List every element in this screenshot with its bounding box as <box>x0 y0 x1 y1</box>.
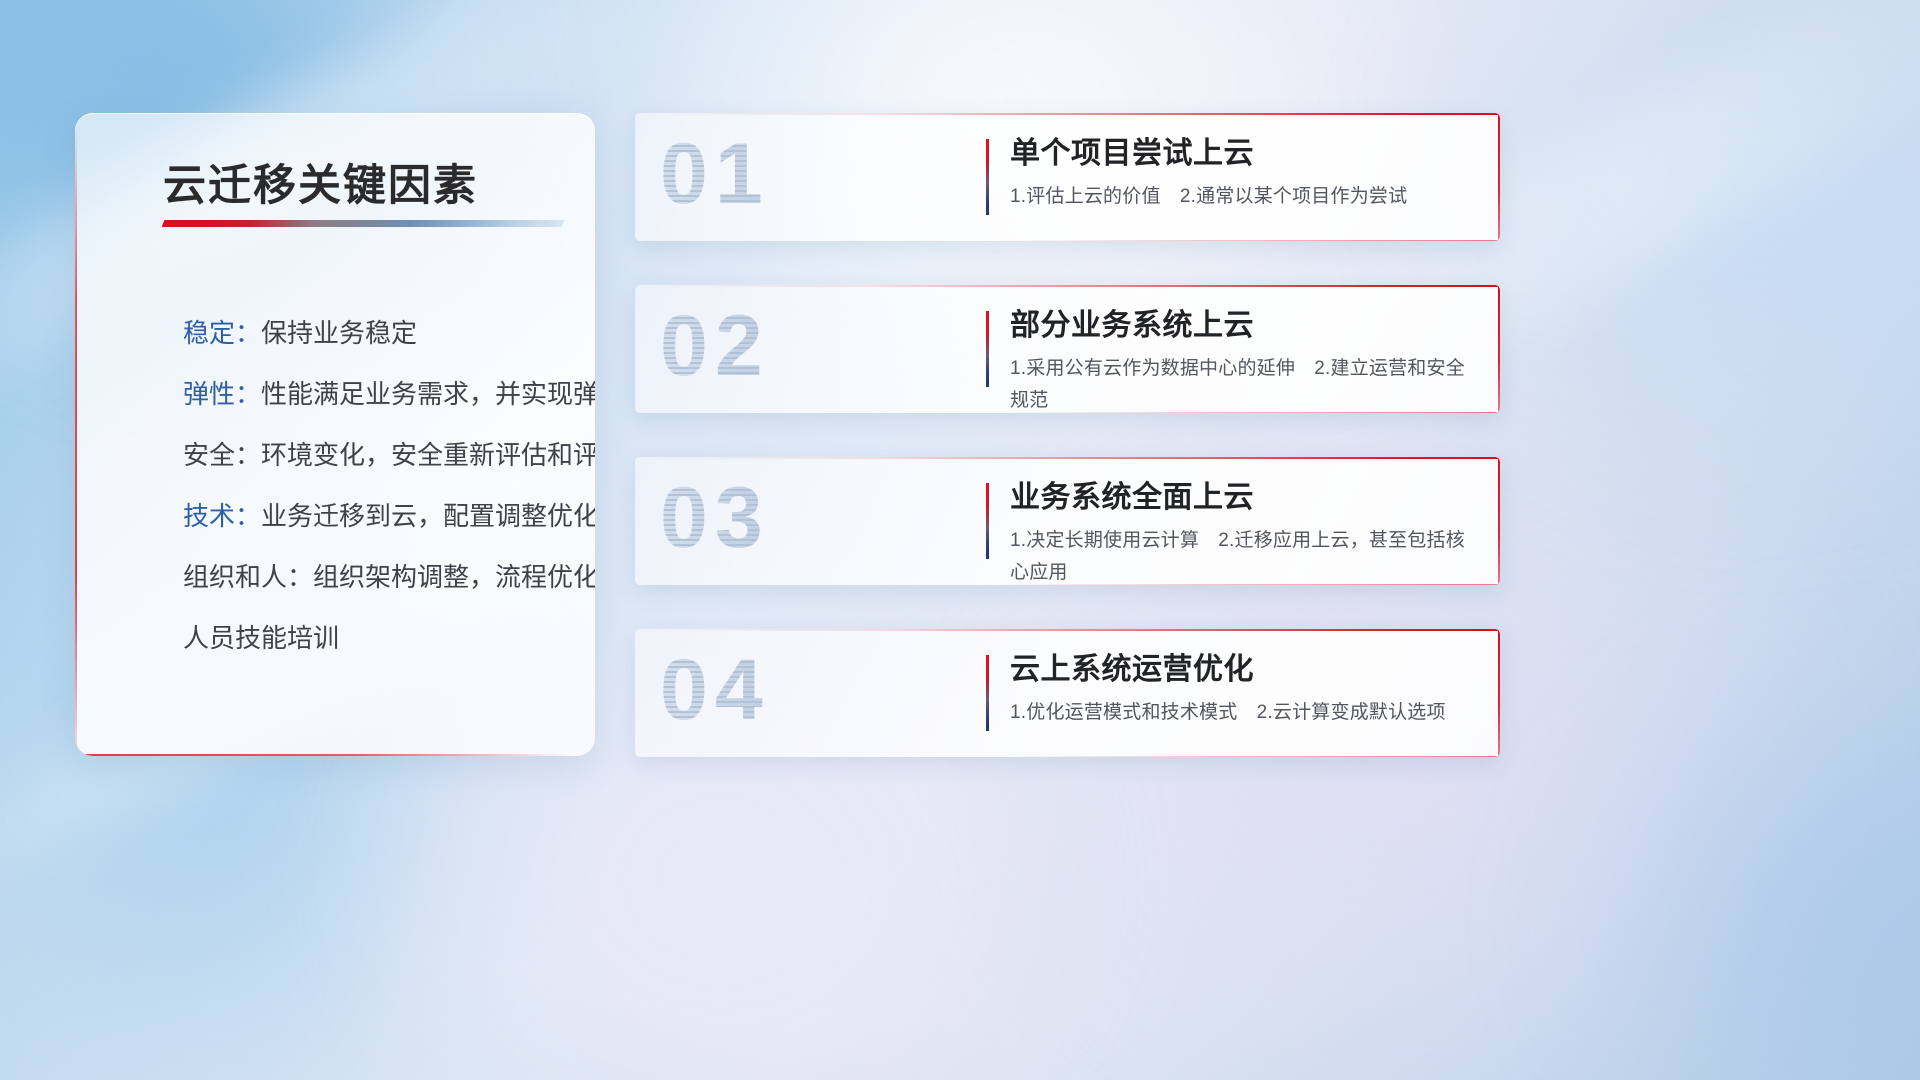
factor-text: 人员技能培训 <box>183 623 339 653</box>
factor-text: 性能满足业务需求，并实现弹性 <box>261 379 595 409</box>
card-top-accent-line <box>635 285 1500 287</box>
step-subtitle: 1.采用公有云作为数据中心的延伸 2.建立运营和安全规范 <box>1010 353 1482 413</box>
factor-text: 保持业务稳定 <box>261 318 417 348</box>
step-title: 部分业务系统上云 <box>1010 305 1482 347</box>
card-top-accent-line <box>635 457 1500 459</box>
step-subtitle: 1.决定长期使用云计算 2.迁移应用上云，甚至包括核心应用 <box>1010 525 1482 585</box>
step-number-watermark: 02 <box>660 297 770 396</box>
step-card-04[interactable]: 04 云上系统运营优化 1.优化运营模式和技术模式 2.云计算变成默认选项 <box>635 629 1500 757</box>
factor-item-security: 安全：环境变化，安全重新评估和评审 <box>103 425 577 486</box>
panel-bottom-accent-line <box>83 754 573 756</box>
slide-content: 云迁移关键因素 稳定：保持业务稳定 弹性：性能满足业务需求，并实现弹性 安全：环… <box>0 0 1920 1080</box>
card-right-accent-line <box>1498 113 1500 241</box>
step-divider-bar <box>986 139 989 215</box>
step-title: 业务系统全面上云 <box>1010 477 1482 519</box>
factor-item-stability: 稳定：保持业务稳定 <box>103 303 577 364</box>
step-divider-bar <box>986 655 989 731</box>
title-underline-gradient <box>162 220 565 227</box>
card-right-accent-line <box>1498 285 1500 413</box>
key-factors-panel: 云迁移关键因素 稳定：保持业务稳定 弹性：性能满足业务需求，并实现弹性 安全：环… <box>75 113 595 756</box>
page-title: 云迁移关键因素 <box>163 151 478 213</box>
step-divider-bar <box>986 483 989 559</box>
card-bottom-accent-line <box>998 756 1500 757</box>
card-top-accent-line <box>635 629 1500 631</box>
card-right-accent-line <box>1498 457 1500 585</box>
step-card-01[interactable]: 01 单个项目尝试上云 1.评估上云的价值 2.通常以某个项目作为尝试 <box>635 113 1500 241</box>
factor-text: 业务迁移到云，配置调整优化 <box>261 501 595 531</box>
factor-label: 弹性： <box>183 379 261 409</box>
factor-label: 安全： <box>183 440 261 470</box>
step-number-watermark: 03 <box>660 469 770 568</box>
factor-item-organization-line2: 人员技能培训 <box>103 608 577 669</box>
step-number-watermark: 04 <box>660 641 770 740</box>
step-card-03[interactable]: 03 业务系统全面上云 1.决定长期使用云计算 2.迁移应用上云，甚至包括核心应… <box>635 457 1500 585</box>
step-title: 云上系统运营优化 <box>1010 649 1482 691</box>
panel-left-accent-line <box>75 127 77 746</box>
step-divider-bar <box>986 311 989 387</box>
step-card-02[interactable]: 02 部分业务系统上云 1.采用公有云作为数据中心的延伸 2.建立运营和安全规范 <box>635 285 1500 413</box>
step-subtitle: 1.评估上云的价值 2.通常以某个项目作为尝试 <box>1010 181 1482 213</box>
factor-item-organization: 组织和人：组织架构调整，流程优化， <box>103 547 577 608</box>
factor-label: 稳定： <box>183 318 261 348</box>
card-bottom-accent-line <box>998 240 1500 241</box>
step-title: 单个项目尝试上云 <box>1010 133 1482 175</box>
card-top-accent-line <box>635 113 1500 115</box>
factor-text: 环境变化，安全重新评估和评审 <box>261 440 595 470</box>
step-subtitle: 1.优化运营模式和技术模式 2.云计算变成默认选项 <box>1010 697 1482 729</box>
step-number-watermark: 01 <box>660 125 770 224</box>
step-text-block: 部分业务系统上云 1.采用公有云作为数据中心的延伸 2.建立运营和安全规范 <box>1010 305 1482 413</box>
factor-item-elasticity: 弹性：性能满足业务需求，并实现弹性 <box>103 364 577 425</box>
factor-item-technology: 技术：业务迁移到云，配置调整优化 <box>103 486 577 547</box>
step-text-block: 业务系统全面上云 1.决定长期使用云计算 2.迁移应用上云，甚至包括核心应用 <box>1010 477 1482 585</box>
step-text-block: 云上系统运营优化 1.优化运营模式和技术模式 2.云计算变成默认选项 <box>1010 649 1482 729</box>
card-right-accent-line <box>1498 629 1500 757</box>
factor-label: 技术： <box>183 501 261 531</box>
step-text-block: 单个项目尝试上云 1.评估上云的价值 2.通常以某个项目作为尝试 <box>1010 133 1482 213</box>
factor-label: 组织和人： <box>183 562 313 592</box>
key-factors-list: 稳定：保持业务稳定 弹性：性能满足业务需求，并实现弹性 安全：环境变化，安全重新… <box>103 303 577 669</box>
factor-text: 组织架构调整，流程优化， <box>313 562 595 592</box>
